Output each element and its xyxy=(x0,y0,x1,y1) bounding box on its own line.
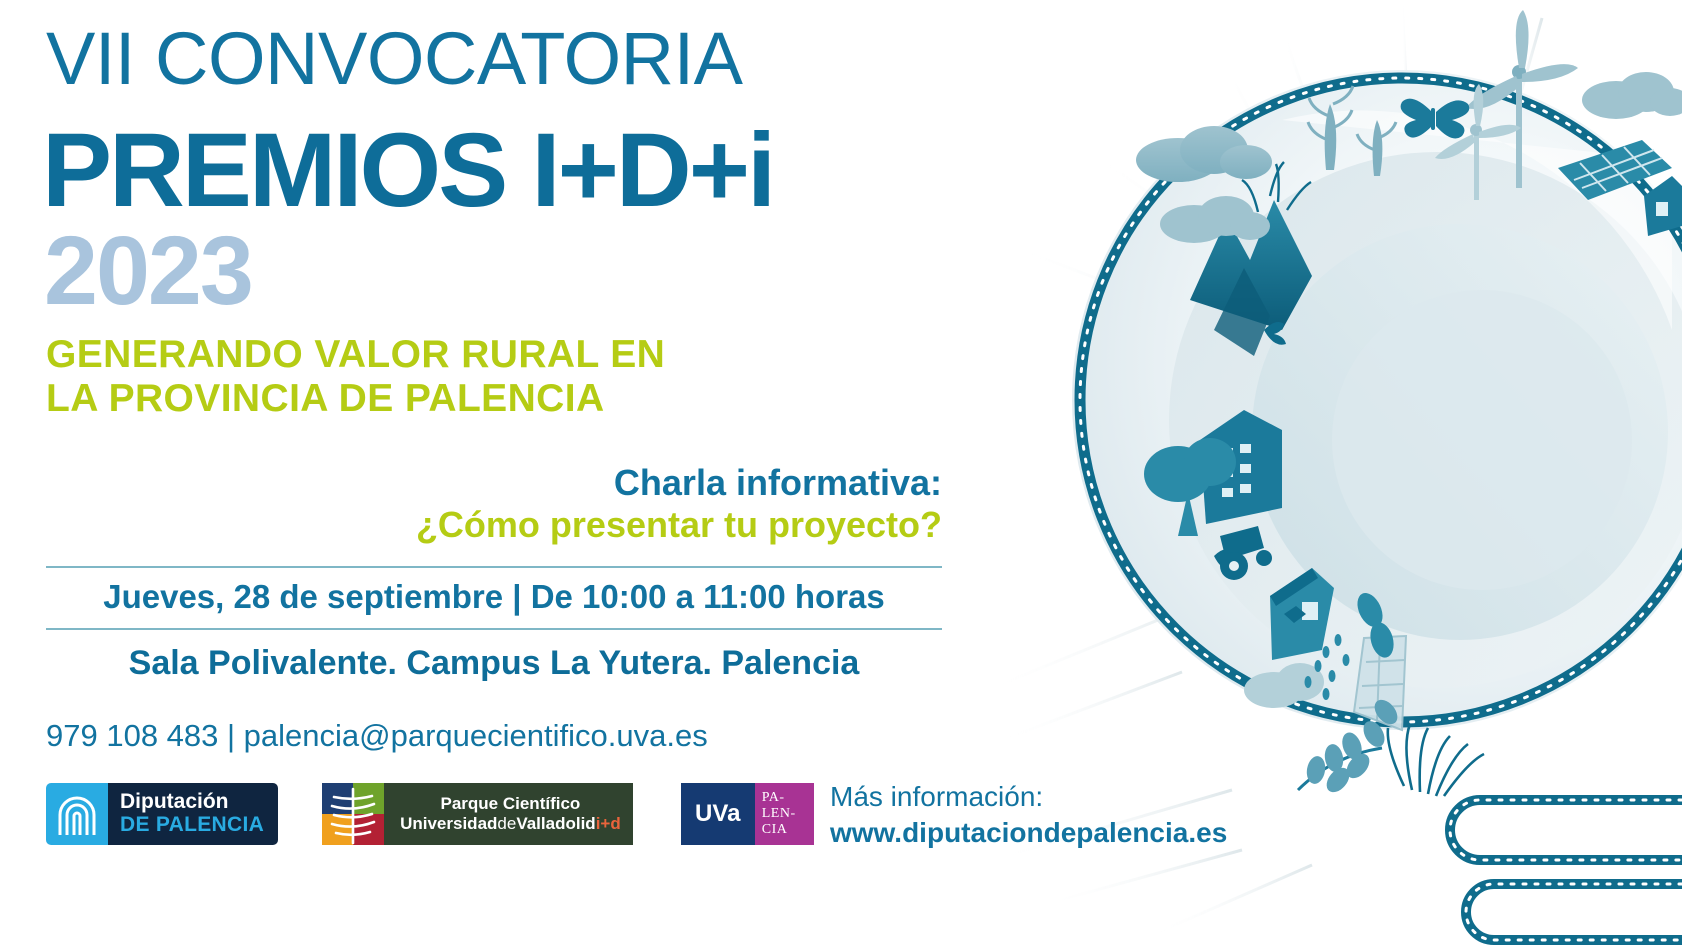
grass-base xyxy=(1388,724,1484,796)
talk-block: Charla informativa: ¿Cómo presentar tu p… xyxy=(42,462,942,547)
diputacion-line-2: DE PALENCIA xyxy=(120,814,264,837)
pc-de: de xyxy=(497,814,516,833)
tractor-icon xyxy=(1220,526,1272,580)
parque-cientifico-wordmark: Parque Científico UniversidaddeValladoli… xyxy=(384,783,633,845)
page-title: PREMIOS I+D+i xyxy=(42,118,773,223)
tagline-line-2: LA PROVINCIA DE PALENCIA xyxy=(46,377,665,421)
logo-parque-cientifico-uva[interactable]: Parque Científico UniversidaddeValladoli… xyxy=(322,783,633,845)
talk-label: Charla informativa: xyxy=(42,462,942,504)
uva-city-line-1: PA- xyxy=(762,790,785,806)
diputacion-line-1: Diputación xyxy=(120,791,264,814)
divider-bottom xyxy=(46,628,942,630)
bulb-screw-base xyxy=(1450,800,1682,940)
wheat-plants xyxy=(1308,86,1396,176)
logo-strip: Diputación DE PALENCIA xyxy=(46,783,814,845)
rain-drops xyxy=(1305,634,1350,700)
poster-canvas: VII CONVOCATORIA PREMIOS I+D+i 2023 GENE… xyxy=(0,0,1682,945)
more-info-block: Más información: www.diputaciondepalenci… xyxy=(830,779,1227,851)
talk-question: ¿Cómo presentar tu proyecto? xyxy=(42,504,942,546)
base-leaves xyxy=(1352,589,1397,660)
pc-universidad: Universidad xyxy=(400,814,497,833)
year-label: 2023 xyxy=(44,222,252,319)
bird-icon xyxy=(1264,322,1286,345)
poster-content: VII CONVOCATORIA PREMIOS I+D+i 2023 GENE… xyxy=(42,0,1222,945)
wind-turbine-large xyxy=(1466,10,1578,188)
field-grid xyxy=(1354,636,1406,730)
leaf-branch-leaves xyxy=(1305,695,1402,796)
diputacion-arch-icon xyxy=(46,783,108,845)
grass-tufts xyxy=(1242,162,1311,212)
bulb-inner-shading xyxy=(1169,110,1682,688)
cloud-top-right xyxy=(1582,72,1682,119)
uva-wordmark: UVa xyxy=(681,783,755,845)
tagline: GENERANDO VALOR RURAL EN LA PROVINCIA DE… xyxy=(46,333,665,420)
uva-city-line-2: LEN- xyxy=(762,806,796,822)
parque-cientifico-line-1: Parque Científico xyxy=(400,794,621,814)
pc-valladolid: Valladolid xyxy=(516,814,595,833)
leaf-branch xyxy=(1298,748,1382,790)
parque-cientifico-line-2: UniversidaddeValladolidi+d xyxy=(400,814,621,834)
more-info-label: Más información: xyxy=(830,779,1227,815)
house-lower xyxy=(1270,568,1334,660)
more-info-url[interactable]: www.diputaciondepalencia.es xyxy=(830,815,1227,851)
logo-uva-palencia[interactable]: UVa PA- LEN- CIA xyxy=(681,783,814,845)
wind-turbine-small xyxy=(1435,84,1521,200)
diputacion-wordmark: Diputación DE PALENCIA xyxy=(108,783,278,845)
uva-city-line-3: CIA xyxy=(762,822,788,838)
butterfly-icon xyxy=(1401,99,1470,139)
kicker-line: VII CONVOCATORIA xyxy=(46,22,742,96)
parque-cientifico-tree-icon xyxy=(322,783,384,845)
contact-line: 979 108 483 | palencia@parquecientifico.… xyxy=(46,718,708,754)
rain-cloud xyxy=(1244,663,1324,708)
divider-top xyxy=(46,566,942,568)
solar-panels xyxy=(1558,140,1672,200)
pc-idi: i+d xyxy=(596,814,621,833)
uva-palencia-block: PA- LEN- CIA xyxy=(755,783,814,845)
event-datetime: Jueves, 28 de septiembre | De 10:00 a 11… xyxy=(46,578,942,616)
tagline-line-1: GENERANDO VALOR RURAL EN xyxy=(46,333,665,377)
house-top-right xyxy=(1644,176,1682,236)
event-venue: Sala Polivalente. Campus La Yutera. Pale… xyxy=(46,644,942,683)
logo-diputacion-de-palencia[interactable]: Diputación DE PALENCIA xyxy=(46,783,278,845)
